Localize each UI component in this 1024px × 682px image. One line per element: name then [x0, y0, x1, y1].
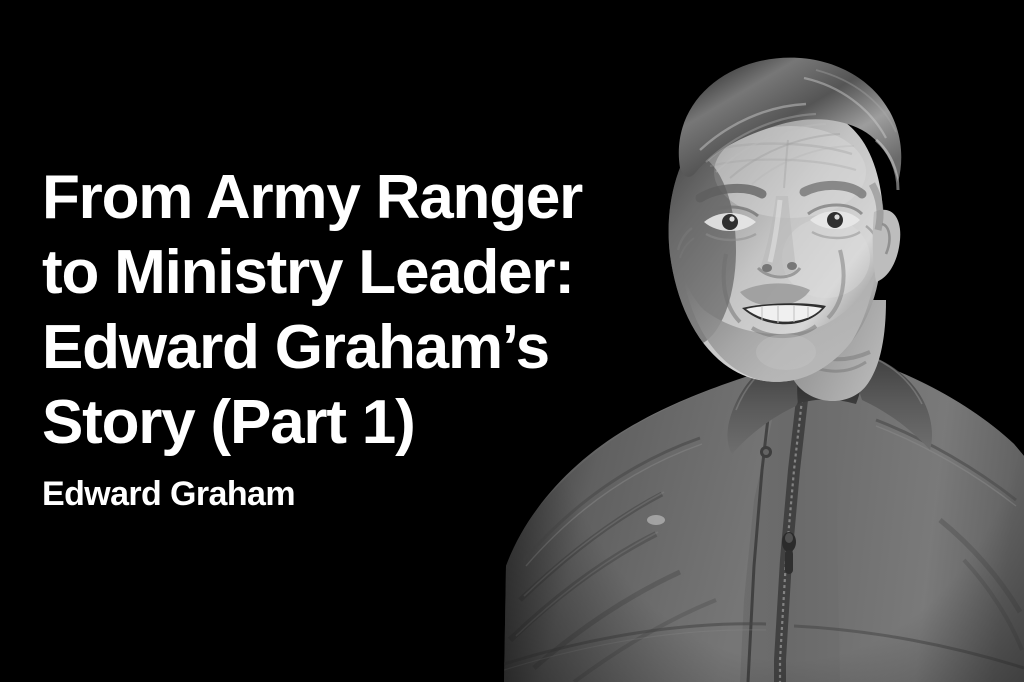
- speaker-name: Edward Graham: [42, 474, 682, 514]
- episode-thumbnail-card: From Army Ranger to Ministry Leader: Edw…: [0, 0, 1024, 682]
- title-line-3: Edward Graham’s: [42, 310, 682, 385]
- text-block: From Army Ranger to Ministry Leader: Edw…: [42, 160, 682, 514]
- title-line-4: Story (Part 1): [42, 385, 682, 460]
- title-line-1: From Army Ranger: [42, 160, 682, 235]
- page-title: From Army Ranger to Ministry Leader: Edw…: [42, 160, 682, 460]
- title-line-2: to Ministry Leader:: [42, 235, 682, 310]
